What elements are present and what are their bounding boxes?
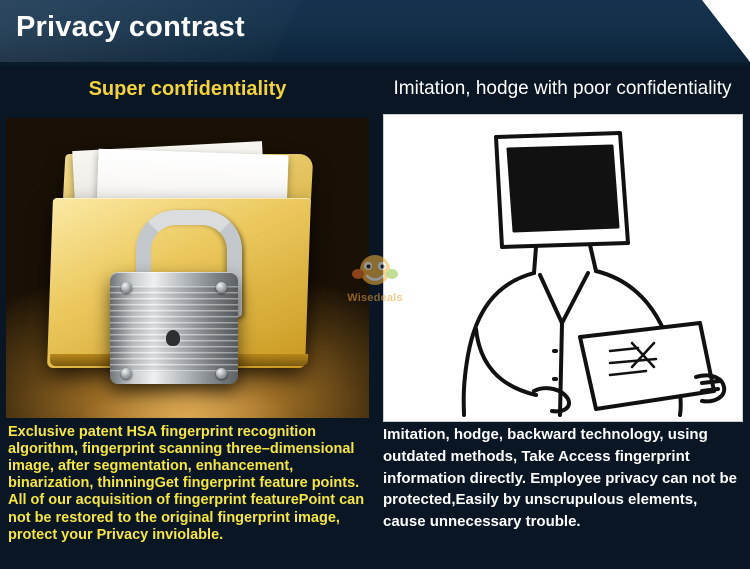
padlock-rivet <box>216 282 227 293</box>
header-banner: Privacy contrast <box>0 0 750 62</box>
right-panel-caption: Imitation, hodge, backward technology, u… <box>375 424 750 533</box>
right-panel-heading: Imitation, hodge with poor confidentiali… <box>375 78 750 100</box>
sketch-person-holding-document <box>383 114 743 422</box>
panel-poor-confidentiality: Imitation, hodge with poor confidentiali… <box>375 66 750 569</box>
padlock-ridges <box>110 286 238 372</box>
left-panel-caption: Exclusive patent HSA fingerprint recogni… <box>0 424 375 544</box>
padlock-rivet <box>121 282 132 293</box>
slide-root: Privacy contrast Super confidentiality <box>0 0 750 569</box>
page-title: Privacy contrast <box>16 11 245 44</box>
padlock-icon <box>110 210 238 400</box>
padlock-rivet <box>216 368 227 379</box>
padlock-keyhole <box>166 330 180 346</box>
panel-super-confidentiality: Super confidentiality <box>0 66 375 569</box>
header-corner-cut <box>702 0 750 62</box>
left-panel-heading: Super confidentiality <box>0 78 375 101</box>
padlock-over-folder-photo <box>6 118 369 418</box>
padlock-rivet <box>121 368 132 379</box>
